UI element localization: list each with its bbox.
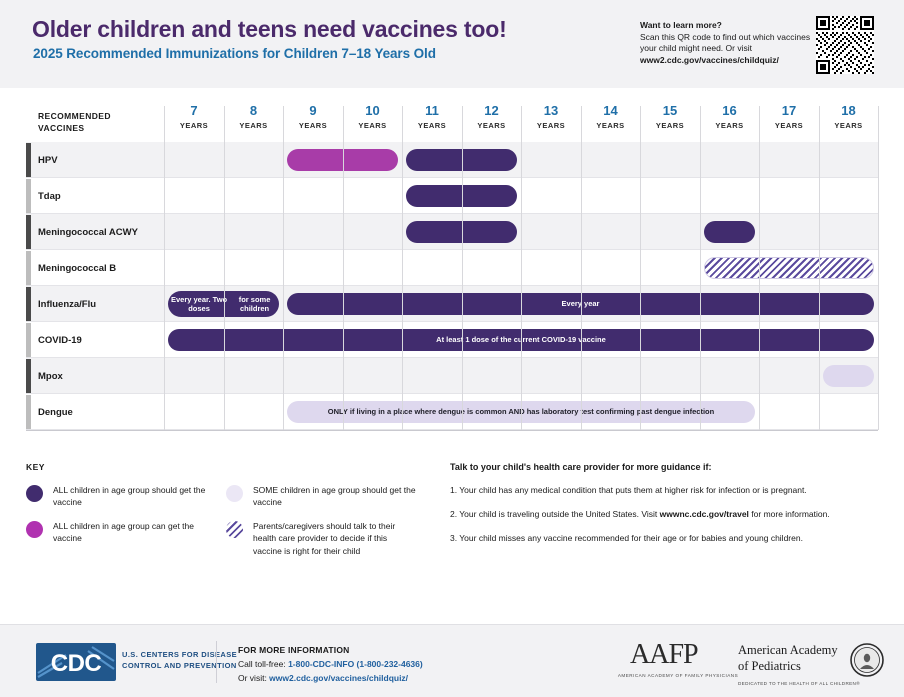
footer-band: CDC U.S. CENTERS FOR DISEASE CONTROL AND… <box>0 625 904 697</box>
column-age-unit: YEARS <box>402 121 462 130</box>
cdc-wordmark-line2: CONTROL AND PREVENTION <box>122 660 237 671</box>
guidance-item-text: Your child has any medical condition tha… <box>459 485 806 495</box>
column-age-unit: YEARS <box>521 121 581 130</box>
header-band: Older children and teens need vaccines t… <box>0 0 904 88</box>
column-age-number: 8 <box>224 104 284 118</box>
bar-label-line: for some children <box>230 295 279 314</box>
legend-item: Parents/caregivers should talk to their … <box>226 520 416 557</box>
schedule-bar[interactable] <box>823 365 875 387</box>
table-row: Mpox <box>26 358 878 394</box>
column-age-unit: YEARS <box>700 121 760 130</box>
qr-callout-body: Scan this QR code to find out which vacc… <box>640 32 810 53</box>
cdc-logo-wordmark: U.S. CENTERS FOR DISEASE CONTROL AND PRE… <box>122 649 237 672</box>
qr-callout: Want to learn more? Scan this QR code to… <box>640 20 888 66</box>
column-header-age-9: 9YEARS <box>283 104 343 130</box>
column-age-number: 18 <box>819 104 879 118</box>
guidance-item-number: 3. <box>450 533 459 543</box>
vaccine-name: COVID-19 <box>38 322 82 358</box>
qr-callout-text: Scan this QR code to find out which vacc… <box>640 32 818 66</box>
column-age-unit: YEARS <box>759 121 819 130</box>
column-age-number: 17 <box>759 104 819 118</box>
guidance-title: Talk to your child's health care provide… <box>450 462 880 472</box>
guidance-item-link[interactable]: wwwnc.cdc.gov/travel <box>660 509 749 519</box>
column-age-unit: YEARS <box>164 121 224 130</box>
guidance-item: 3. Your child misses any vaccine recomme… <box>450 532 880 545</box>
footer-contact-info: FOR MORE INFORMATION Call toll-free: 1-8… <box>238 645 423 683</box>
aafp-wordmark-text: AAFP <box>630 639 698 670</box>
vaccine-name: Meningococcal B <box>38 250 116 286</box>
grid-line <box>402 106 403 430</box>
column-header-age-18: 18YEARS <box>819 104 879 130</box>
grid-line <box>759 106 760 430</box>
vaccine-name: HPV <box>38 142 58 178</box>
aafp-tagline: AMERICAN ACADEMY OF FAMILY PHYSICIANS <box>616 673 740 678</box>
aap-logo: American Academy of Pediatrics DEDICATED… <box>738 643 888 686</box>
column-age-number: 14 <box>581 104 641 118</box>
table-row: COVID-19At least 1 dose of the current C… <box>26 322 878 358</box>
column-age-unit: YEARS <box>640 121 700 130</box>
qr-code-image[interactable] <box>816 16 874 74</box>
legend-item-label: ALL children in age group can get the va… <box>53 520 216 545</box>
footer-phone-prefix: Call toll-free: <box>238 659 288 669</box>
row-accent-bar <box>26 143 31 177</box>
column-header-age-16: 16YEARS <box>700 104 760 130</box>
column-age-unit: YEARS <box>581 121 641 130</box>
grid-line <box>164 106 165 430</box>
vaccine-name: Influenza/Flu <box>38 286 96 322</box>
legend-item-label: Parents/caregivers should talk to their … <box>253 520 416 557</box>
table-row: Meningococcal ACWY <box>26 214 878 250</box>
row-accent-bar <box>26 323 31 357</box>
grid-line <box>700 106 701 430</box>
legend-swatch-hatch <box>226 521 243 538</box>
column-age-number: 16 <box>700 104 760 118</box>
grid-line <box>878 106 879 430</box>
footer-vertical-rule <box>216 641 217 683</box>
column-header-age-12: 12YEARS <box>462 104 522 130</box>
footer-phone-number[interactable]: 1-800-CDC-INFO (1-800-232-4636) <box>288 659 423 669</box>
vaccine-name: Dengue <box>38 394 73 430</box>
schedule-bar[interactable] <box>704 221 756 243</box>
infographic-page: Older children and teens need vaccines t… <box>0 0 904 697</box>
page-title: Older children and teens need vaccines t… <box>32 16 507 43</box>
legend-title: KEY <box>26 462 436 472</box>
legend: KEY ALL children in age group should get… <box>26 462 436 554</box>
vaccine-name: Meningococcal ACWY <box>38 214 138 250</box>
cdc-logo-icon: CDC <box>36 643 116 681</box>
row-accent-bar <box>26 251 31 285</box>
recommended-vaccines-header: RECOMMENDED VACCINES <box>38 110 111 135</box>
legend-item: SOME children in age group should get th… <box>226 484 416 509</box>
table-body: HPVTdapMeningococcal ACWYMeningococcal B… <box>26 142 878 430</box>
immunization-schedule-table: RECOMMENDED VACCINES 7YEARS8YEARS9YEARS1… <box>26 100 878 430</box>
column-header-age-8: 8YEARS <box>224 104 284 130</box>
column-age-unit: YEARS <box>343 121 403 130</box>
grid-line <box>462 106 463 430</box>
legend-swatch-magenta <box>26 521 43 538</box>
legend-item-label: SOME children in age group should get th… <box>253 484 416 509</box>
row-accent-bar <box>26 287 31 321</box>
recommended-vaccines-header-line1: RECOMMENDED <box>38 110 111 122</box>
cdc-wordmark-line1: U.S. CENTERS FOR DISEASE <box>122 649 237 660</box>
legend-item: ALL children in age group should get the… <box>26 484 216 509</box>
column-header-age-14: 14YEARS <box>581 104 641 130</box>
footer-info-heading: FOR MORE INFORMATION <box>238 645 423 655</box>
table-column-headers: RECOMMENDED VACCINES 7YEARS8YEARS9YEARS1… <box>26 100 878 142</box>
column-age-unit: YEARS <box>224 121 284 130</box>
grid-line <box>581 106 582 430</box>
column-header-age-11: 11YEARS <box>402 104 462 130</box>
legend-item: ALL children in age group can get the va… <box>26 520 216 545</box>
page-subtitle: 2025 Recommended Immunizations for Child… <box>33 46 436 61</box>
column-age-number: 11 <box>402 104 462 118</box>
column-header-age-15: 15YEARS <box>640 104 700 130</box>
guidance-item-number: 1. <box>450 485 459 495</box>
table-row: DengueONLY if living in a place where de… <box>26 394 878 430</box>
grid-line <box>640 106 641 430</box>
table-row: Meningococcal B <box>26 250 878 286</box>
guidance-item-text: Your child is traveling outside the Unit… <box>459 509 659 519</box>
grid-line <box>819 106 820 430</box>
column-age-unit: YEARS <box>283 121 343 130</box>
grid-line <box>224 106 225 430</box>
column-age-unit: YEARS <box>819 121 879 130</box>
grid-line <box>521 106 522 430</box>
guidance-item: 1. Your child has any medical condition … <box>450 484 880 497</box>
guidance-item-number: 2. <box>450 509 459 519</box>
footer-phone-line: Call toll-free: 1-800-CDC-INFO (1-800-23… <box>238 659 423 669</box>
recommended-vaccines-header-line2: VACCINES <box>38 122 111 134</box>
aap-tagline: DEDICATED TO THE HEALTH OF ALL CHILDREN® <box>738 681 888 686</box>
footer-url-line: Or visit: www2.cdc.gov/vaccines/childqui… <box>238 673 423 683</box>
column-age-number: 15 <box>640 104 700 118</box>
column-header-age-7: 7YEARS <box>164 104 224 130</box>
guidance-item: 2. Your child is traveling outside the U… <box>450 508 880 521</box>
qr-callout-url: www2.cdc.gov/vaccines/childquiz/ <box>640 55 779 65</box>
vaccine-name: Tdap <box>38 178 61 214</box>
column-header-age-13: 13YEARS <box>521 104 581 130</box>
guidance-item-text: Your child misses any vaccine recommende… <box>459 533 803 543</box>
table-bottom-border <box>26 430 878 431</box>
table-row: Influenza/FluEvery year. Two dosesfor so… <box>26 286 878 322</box>
column-header-age-17: 17YEARS <box>759 104 819 130</box>
row-accent-bar <box>26 179 31 213</box>
row-accent-bar <box>26 395 31 429</box>
column-header-age-10: 10YEARS <box>343 104 403 130</box>
table-row: HPV <box>26 142 878 178</box>
grid-line <box>283 106 284 430</box>
footer-url-link[interactable]: www2.cdc.gov/vaccines/childquiz/ <box>269 673 408 683</box>
row-accent-bar <box>26 215 31 249</box>
guidance-item-text-after: for more information. <box>749 509 830 519</box>
column-age-unit: YEARS <box>462 121 522 130</box>
column-age-number: 10 <box>343 104 403 118</box>
column-age-number: 13 <box>521 104 581 118</box>
table-row: Tdap <box>26 178 878 214</box>
column-age-number: 9 <box>283 104 343 118</box>
column-age-number: 7 <box>164 104 224 118</box>
aap-seal-icon <box>850 643 884 677</box>
aafp-wordmark: AAFP <box>616 641 740 669</box>
svg-text:CDC: CDC <box>51 650 102 677</box>
vaccine-name: Mpox <box>38 358 63 394</box>
row-accent-bar <box>26 359 31 393</box>
grid-line <box>343 106 344 430</box>
bar-label-line: Every year. Two doses <box>168 295 230 314</box>
guidance-panel: Talk to your child's health care provide… <box>450 462 880 555</box>
legend-swatch-dark <box>26 485 43 502</box>
schedule-bar[interactable] <box>704 257 875 279</box>
aafp-logo: AAFP AMERICAN ACADEMY OF FAMILY PHYSICIA… <box>616 641 740 678</box>
column-age-number: 12 <box>462 104 522 118</box>
footer-url-prefix: Or visit: <box>238 673 269 683</box>
legend-swatch-pale <box>226 485 243 502</box>
legend-item-label: ALL children in age group should get the… <box>53 484 216 509</box>
